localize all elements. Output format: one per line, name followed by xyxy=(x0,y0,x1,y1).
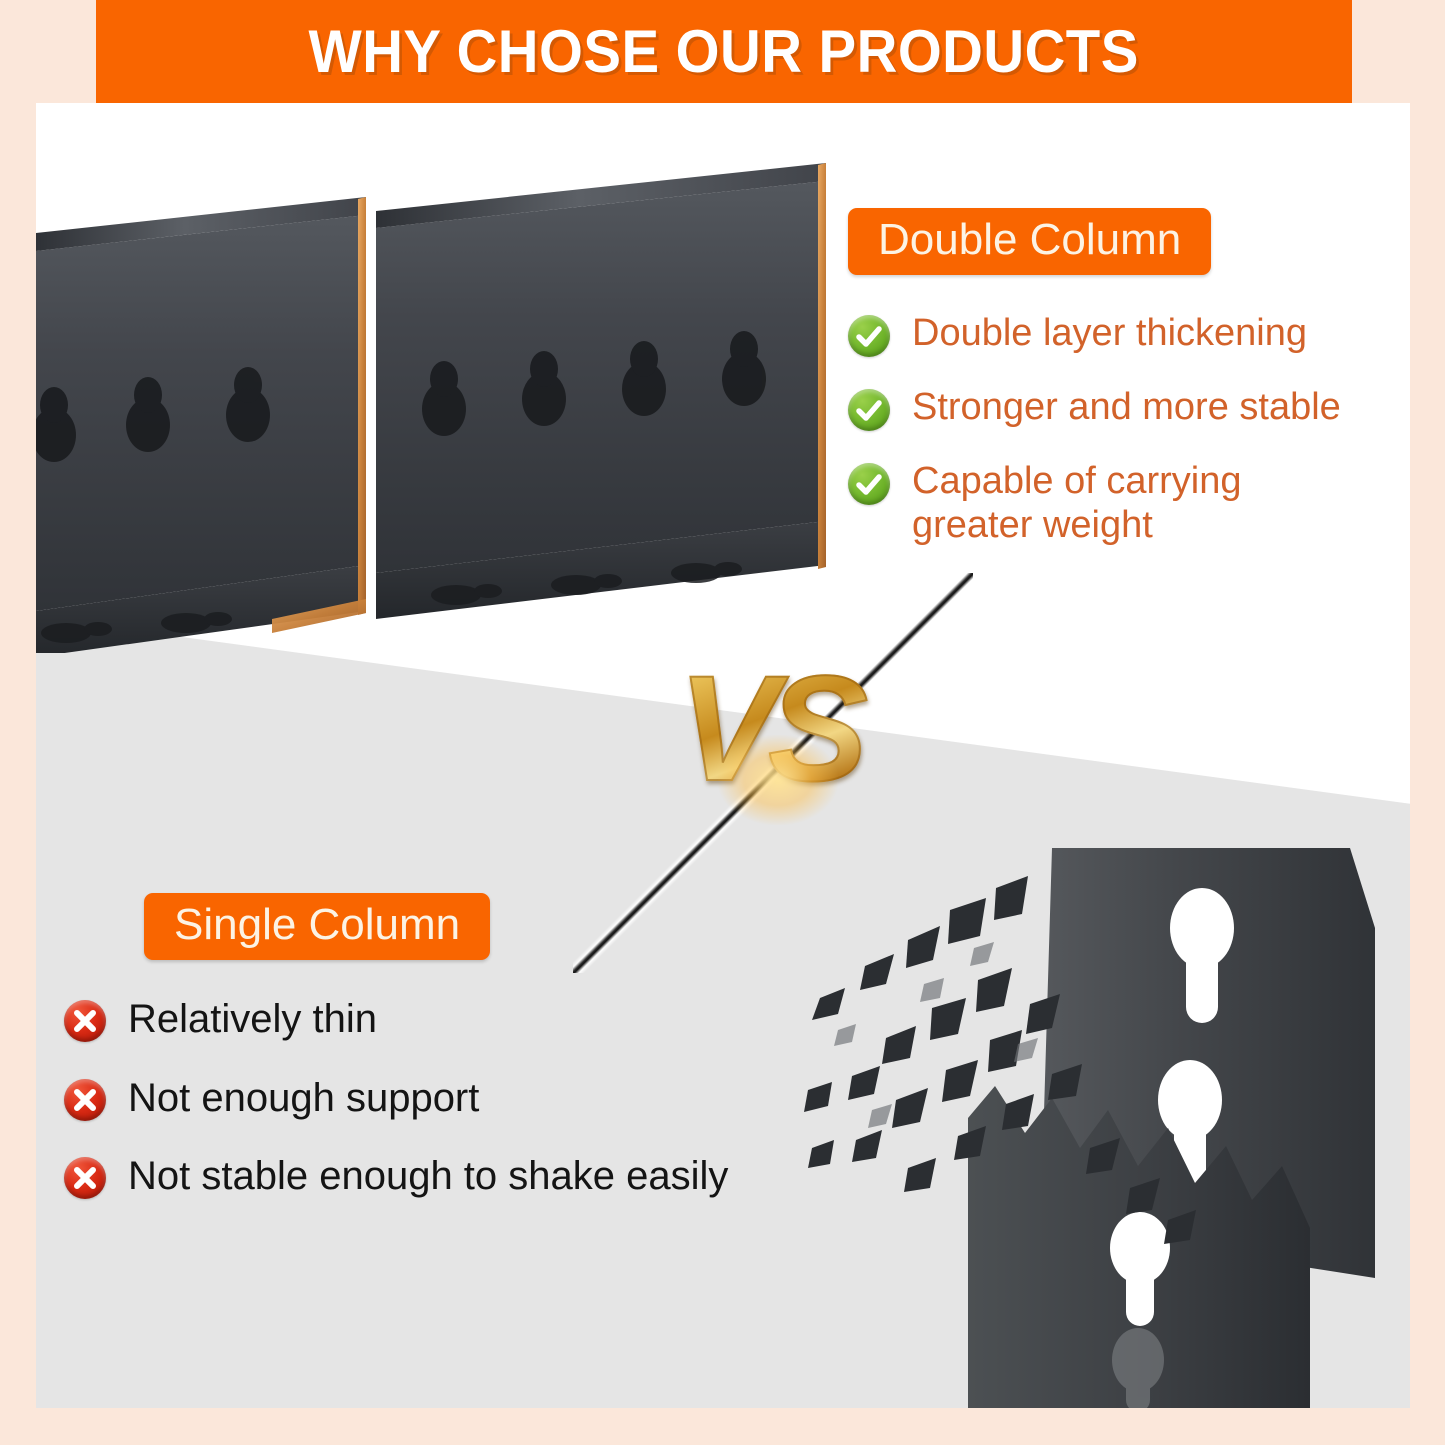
panel-double-column: Double Column Double layer thickening St… xyxy=(848,208,1408,575)
drawback-label: Relatively thin xyxy=(128,996,377,1042)
list-item: Not stable enough to shake easily xyxy=(64,1153,864,1199)
benefit-label: Capable of carrying greater weight xyxy=(912,459,1242,547)
list-item: Relatively thin xyxy=(64,996,864,1042)
cross-circle-icon xyxy=(64,1157,106,1199)
infographic-page: VS Double Column Double layer thickening… xyxy=(0,0,1445,1445)
drawback-label: Not stable enough to shake easily xyxy=(128,1153,728,1199)
drawback-label: Not enough support xyxy=(128,1075,479,1121)
cross-circle-icon xyxy=(64,1079,106,1121)
cross-circle-icon xyxy=(64,1000,106,1042)
list-item: Double layer thickening xyxy=(848,311,1408,357)
list-item: Stronger and more stable xyxy=(848,385,1408,431)
panel-single-column: Single Column Relatively thin xyxy=(64,893,864,1231)
content-card: VS Double Column Double layer thickening… xyxy=(36,103,1410,1408)
list-item: Not enough support xyxy=(64,1075,864,1121)
list-item: Capable of carrying greater weight xyxy=(848,459,1408,547)
header-banner: WHY CHOSE OUR PRODUCTS xyxy=(96,0,1352,103)
check-circle-icon xyxy=(848,315,890,357)
badge-double-column: Double Column xyxy=(848,208,1211,275)
check-circle-icon xyxy=(848,389,890,431)
badge-single-column: Single Column xyxy=(144,893,490,960)
vs-label: VS xyxy=(648,653,888,803)
single-column-drawback-list: Relatively thin Not enough support xyxy=(64,996,864,1199)
page-title: WHY CHOSE OUR PRODUCTS xyxy=(309,17,1139,86)
photo-double-column-beams xyxy=(36,133,826,653)
benefit-label: Double layer thickening xyxy=(912,311,1307,355)
double-column-benefit-list: Double layer thickening Stronger and mor… xyxy=(848,311,1408,547)
photo-broken-single-column xyxy=(790,848,1410,1408)
vs-emblem: VS xyxy=(648,635,888,885)
check-circle-icon xyxy=(848,463,890,505)
benefit-label: Stronger and more stable xyxy=(912,385,1341,429)
